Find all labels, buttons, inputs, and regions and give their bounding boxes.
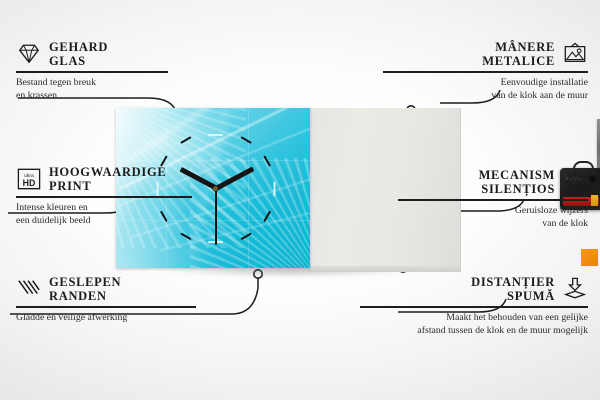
callout-subtitle-line1: Gladde en veilige afwerking <box>16 312 216 325</box>
foam-spacer <box>581 249 598 266</box>
callout-gehard-glas: GEHARD GLAS Bestand tegen breuk en krass… <box>16 40 186 102</box>
callout-distantier-spuma: DISTANȚIER SPUMĂ Maakt het behouden van … <box>360 275 588 337</box>
callout-geslepen-randen: GESLEPEN RANDEN Gladde en veilige afwerk… <box>16 275 216 325</box>
callout-subtitle-line2: een duidelijk beeld <box>16 215 206 228</box>
svg-text:HD: HD <box>23 178 36 188</box>
callout-title-line2: PRINT <box>49 179 166 193</box>
gear-icon <box>562 170 588 194</box>
callout-title-line1: GESLEPEN <box>49 275 121 289</box>
callout-title-line1: MÂNERE <box>482 40 555 54</box>
spacer-arrow-icon <box>562 277 588 301</box>
callout-mecanism-silentios: MECANISM SILENȚIOS Geruisloze wijzers va… <box>398 168 588 230</box>
callout-subtitle-line1: Geruisloze wijzers <box>398 205 588 218</box>
callout-rule <box>16 196 192 198</box>
callout-title-line2: RANDEN <box>49 289 121 303</box>
clock-tick <box>273 181 275 196</box>
picture-hanger-icon <box>562 42 588 66</box>
ultra-hd-icon: ultra HD <box>16 167 42 191</box>
callout-title-line1: MECANISM <box>479 168 555 182</box>
callout-subtitle-line1: Bestand tegen breuk <box>16 77 186 90</box>
clock-tick <box>208 134 223 136</box>
callout-rule <box>383 71 588 73</box>
callout-title-line1: GEHARD <box>49 40 108 54</box>
callout-subtitle-line2: afstand tussen de klok en de muur mogeli… <box>360 325 588 338</box>
callout-subtitle-line2: van de klok <box>398 218 588 231</box>
clock-second-hand <box>215 189 217 245</box>
callout-title-line1: DISTANȚIER <box>471 275 555 289</box>
callout-subtitle-line2: van de klok aan de muur <box>383 90 588 103</box>
callout-title-line2: SPUMĂ <box>471 289 555 303</box>
callout-subtitle-line1: Maakt het behouden van een gelijke <box>360 312 588 325</box>
callout-rule <box>16 71 168 73</box>
callout-title-line2: METALICE <box>482 54 555 68</box>
callout-title-line2: GLAS <box>49 54 108 68</box>
callout-rule <box>16 306 196 308</box>
clock-center-pin <box>213 186 218 191</box>
callout-hoogwaardige-print: ultra HD HOOGWAARDIGE PRINT Intense kleu… <box>16 165 206 227</box>
callout-title-line2: SILENȚIOS <box>479 182 555 196</box>
callout-subtitle-line2: en krassen <box>16 90 186 103</box>
infographic-canvas: GEHARD GLAS Bestand tegen breuk en krass… <box>0 0 600 400</box>
diagonal-lines-icon <box>16 277 42 301</box>
callout-rule <box>360 306 588 308</box>
diamond-icon <box>16 42 42 66</box>
callout-subtitle-line1: Eenvoudige installatie <box>383 77 588 90</box>
mechanism-shaft-hole <box>589 175 596 182</box>
callout-title-line1: HOOGWAARDIGE <box>49 165 166 179</box>
callout-manere-metalice: MÂNERE METALICE Eenvoudige installatie v… <box>383 40 588 102</box>
callout-subtitle-line1: Intense kleuren en <box>16 202 206 215</box>
callout-rule <box>398 199 588 201</box>
